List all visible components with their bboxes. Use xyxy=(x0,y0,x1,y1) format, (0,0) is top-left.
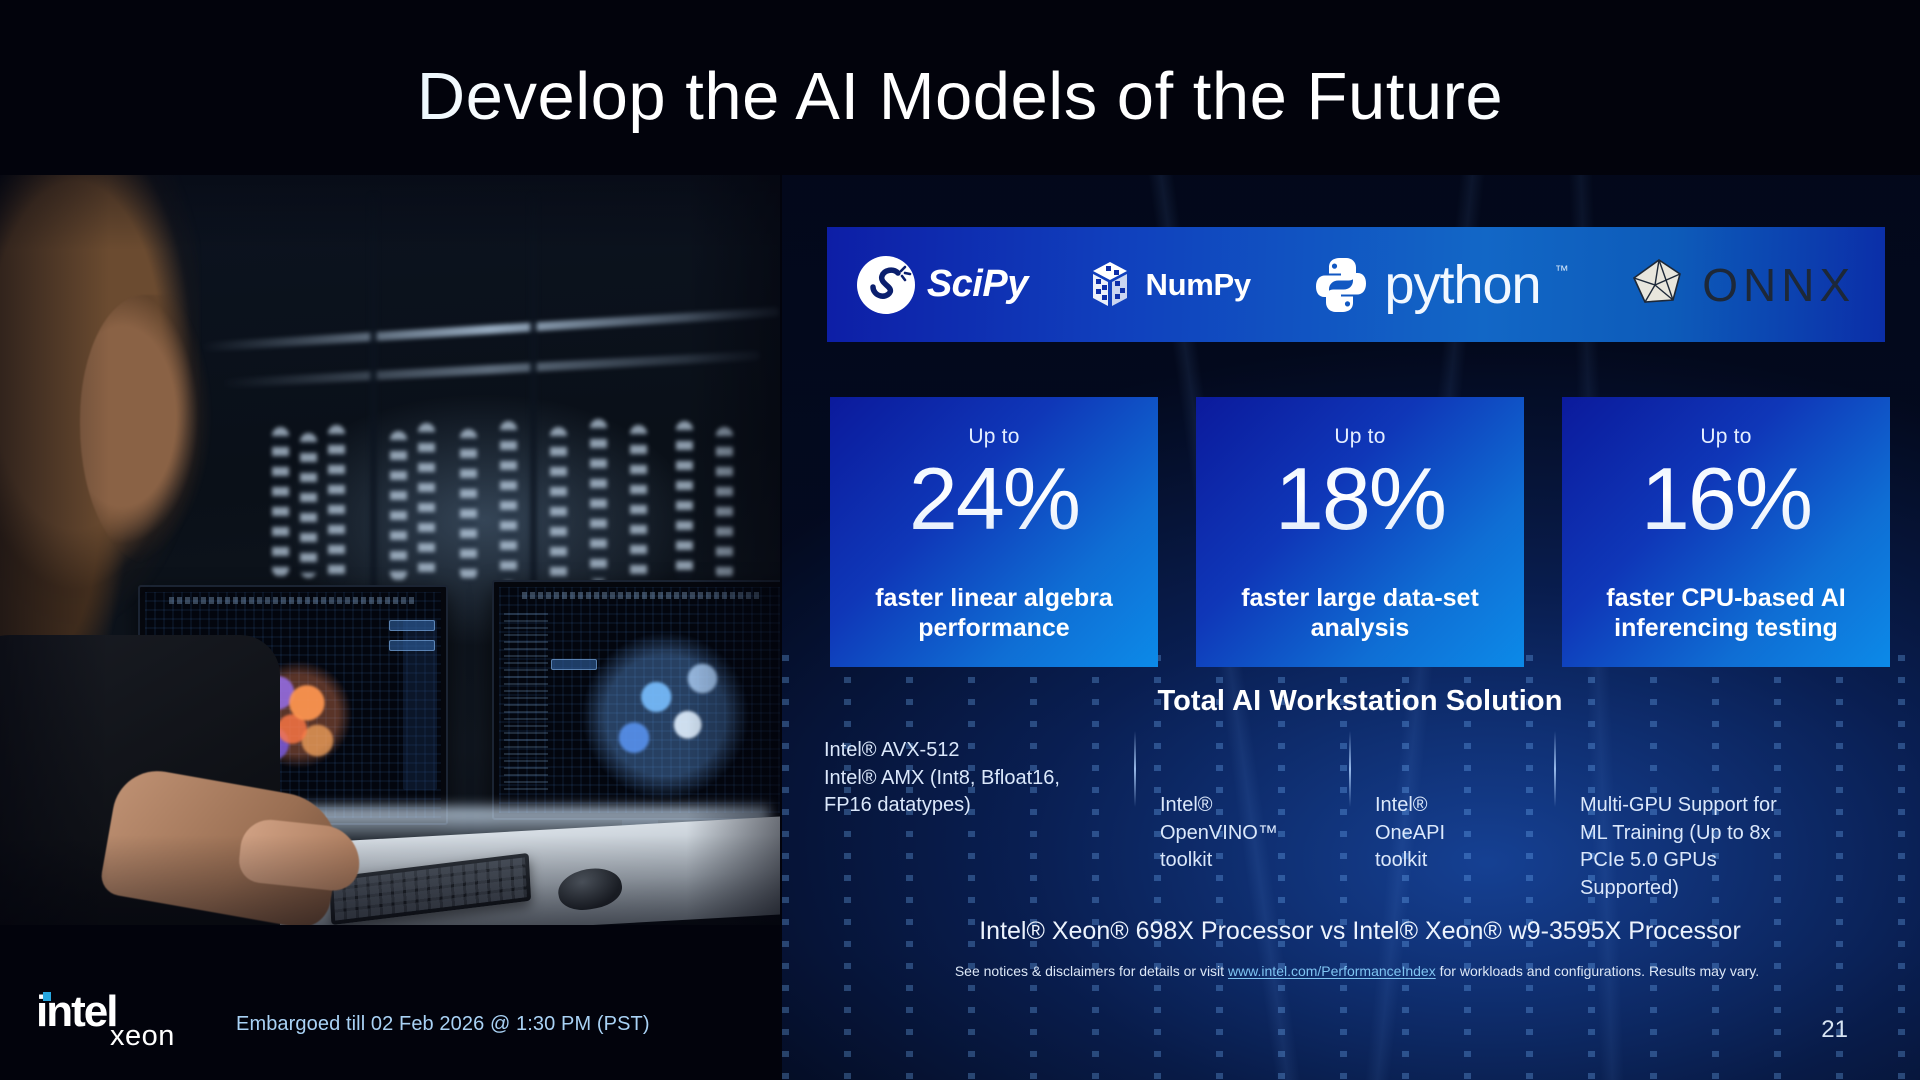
embargo-notice: Embargoed till 02 Feb 2026 @ 1:30 PM (PS… xyxy=(236,1013,650,1036)
scipy-icon xyxy=(857,256,915,314)
feature-text: Intel® OneAPI toolkit xyxy=(1375,794,1445,871)
python-logo: python ™ xyxy=(1310,254,1568,316)
intel-xeon-logo: intel xeon xyxy=(36,990,206,1052)
feature-item-oneapi: Intel® OneAPI toolkit xyxy=(1349,737,1554,903)
column-divider xyxy=(1554,731,1556,807)
feature-item-multi-gpu: Multi-GPU Support for ML Training (Up to… xyxy=(1554,737,1894,903)
disclaimer-before: See notices & disclaimers for details or… xyxy=(955,963,1228,979)
xeon-wordmark: xeon xyxy=(110,1022,175,1051)
ecosystem-logo-bar: SciPy xyxy=(827,227,1885,342)
intel-dot-accent xyxy=(43,992,51,1001)
content-panel: SciPy xyxy=(782,175,1920,1080)
stat-card-2: Up to 18% faster large data-set analysis xyxy=(1196,397,1524,667)
stat-value: 18% xyxy=(1275,453,1445,545)
stat-description: faster linear algebra performance xyxy=(830,583,1158,643)
onnx-label: ONNX xyxy=(1702,258,1855,312)
python-trademark: ™ xyxy=(1555,262,1569,278)
stat-description: faster CPU-based AI inferencing testing xyxy=(1562,583,1890,643)
solution-heading: Total AI Workstation Solution xyxy=(830,685,1890,718)
disclaimer-after: for workloads and configurations. Result… xyxy=(1436,963,1759,979)
stat-card-1: Up to 24% faster linear algebra performa… xyxy=(830,397,1158,667)
python-icon xyxy=(1310,254,1372,316)
column-divider xyxy=(1134,731,1136,807)
feature-item-openvino: Intel® OpenVINO™ toolkit xyxy=(1134,737,1349,903)
stat-value: 16% xyxy=(1641,453,1811,545)
feature-columns: Intel® AVX-512 Intel® AMX (Int8, Bfloat1… xyxy=(824,737,1894,903)
onnx-icon xyxy=(1628,254,1690,316)
photo-vignette xyxy=(0,175,780,925)
numpy-icon xyxy=(1087,260,1133,310)
column-divider xyxy=(1349,731,1351,807)
feature-text: Multi-GPU Support for ML Training (Up to… xyxy=(1580,794,1777,899)
stat-upto-label: Up to xyxy=(1334,425,1385,449)
processor-comparison: Intel® Xeon® 698X Processor vs Intel® Xe… xyxy=(830,917,1890,946)
page-title: Develop the AI Models of the Future xyxy=(0,58,1920,135)
feature-text: Intel® OpenVINO™ toolkit xyxy=(1160,794,1278,871)
stat-value: 24% xyxy=(909,453,1079,545)
numpy-label: NumPy xyxy=(1145,267,1250,303)
numpy-logo: NumPy xyxy=(1087,260,1250,310)
performance-index-link[interactable]: www.intel.com/PerformanceIndex xyxy=(1228,963,1436,979)
workstation-photo xyxy=(0,175,780,925)
onnx-logo: ONNX xyxy=(1628,254,1855,316)
disclaimer: See notices & disclaimers for details or… xyxy=(802,963,1912,979)
python-label: python xyxy=(1384,254,1540,316)
stat-card-3: Up to 16% faster CPU-based AI inferencin… xyxy=(1562,397,1890,667)
page-number: 21 xyxy=(1821,1016,1848,1044)
stat-upto-label: Up to xyxy=(968,425,1019,449)
stat-description: faster large data-set analysis xyxy=(1196,583,1524,643)
scipy-logo: SciPy xyxy=(857,256,1028,314)
stat-card-group: Up to 24% faster linear algebra performa… xyxy=(830,397,1890,667)
slide-root: Develop the AI Models of the Future xyxy=(0,0,1920,1080)
stat-upto-label: Up to xyxy=(1700,425,1751,449)
scipy-label: SciPy xyxy=(927,263,1028,306)
feature-item-avx-amx: Intel® AVX-512 Intel® AMX (Int8, Bfloat1… xyxy=(824,737,1134,903)
